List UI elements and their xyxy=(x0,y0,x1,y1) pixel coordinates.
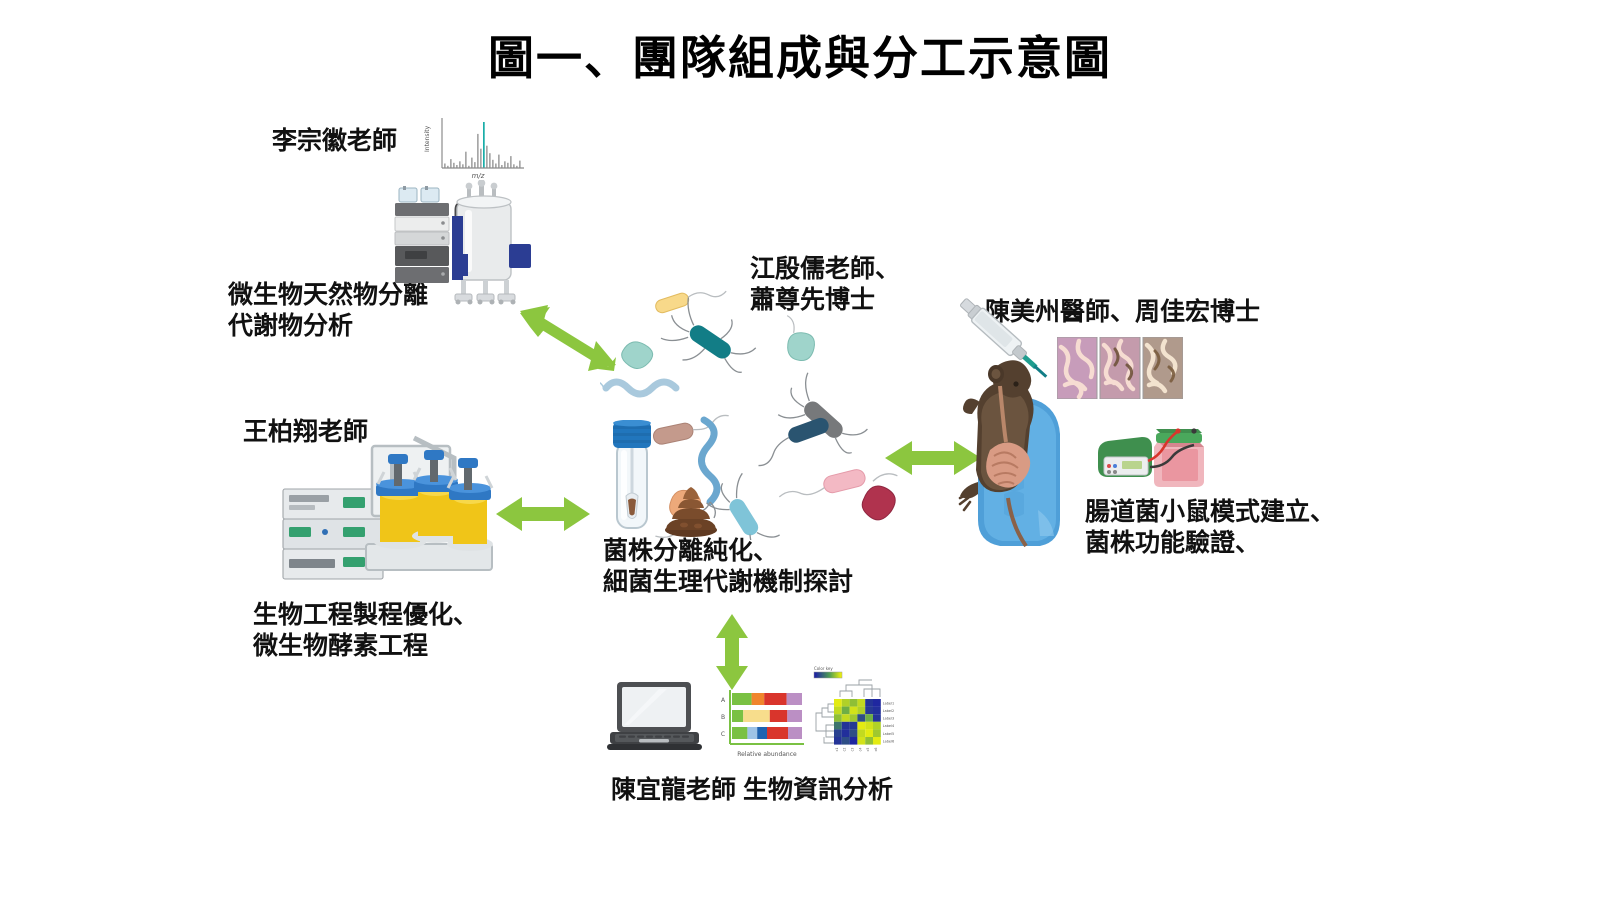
node-label-natural-products-role: 微生物天然物分離 代謝物分析 xyxy=(228,280,428,343)
svg-text:c1: c1 xyxy=(835,748,839,752)
svg-text:c5: c5 xyxy=(866,748,870,752)
svg-text:c4: c4 xyxy=(858,748,862,752)
svg-text:c2: c2 xyxy=(843,748,847,752)
page-title: 圖一、團隊組成與分工示意圖 xyxy=(0,22,1600,88)
histology-panels-icon xyxy=(1057,337,1183,399)
hplc-instrument-icon xyxy=(391,186,453,286)
node-label-animal-model-role: 腸道菌小鼠模式建立、 菌株功能驗證、 xyxy=(1085,497,1335,560)
svg-text:Label2: Label2 xyxy=(883,709,894,713)
node-label-natural-products-people: 李宗徽老師 xyxy=(272,126,397,157)
svg-text:Label1: Label1 xyxy=(883,701,894,705)
heatmap-icon: Color key xyxy=(800,663,900,761)
svg-text:Label4: Label4 xyxy=(883,724,894,728)
svg-text:B: B xyxy=(721,714,725,721)
node-label-bioprocess-role: 生物工程製程優化、 微生物酵素工程 xyxy=(253,600,478,663)
svg-text:C: C xyxy=(721,731,725,738)
svg-text:Color key: Color key xyxy=(814,666,833,671)
svg-text:Intensity: Intensity xyxy=(424,125,431,152)
stacked-bar-chart-icon: ABC Relative abundance xyxy=(712,684,808,760)
gel-electrophoresis-icon xyxy=(1096,413,1204,491)
node-label-bioprocess-people: 王柏翔老師 xyxy=(243,417,368,448)
connector-center-to-bioinformatics xyxy=(712,614,752,690)
svg-text:Label3: Label3 xyxy=(883,717,894,721)
svg-text:A: A xyxy=(721,697,726,704)
svg-text:m/z: m/z xyxy=(472,172,485,180)
svg-text:Label6: Label6 xyxy=(883,739,894,743)
node-label-bioinformatics-people: 陳宜龍老師 生物資訊分析 xyxy=(611,775,893,806)
nmr-spectrometer-icon xyxy=(452,180,536,305)
svg-text:c6: c6 xyxy=(874,748,878,752)
mouse-gavage-icon xyxy=(938,290,1084,548)
diagram-canvas: 圖一、團隊組成與分工示意圖 李宗徽老師 微生物天然物分離 代謝物分析 Inten… xyxy=(0,0,1600,900)
stool-icon xyxy=(664,485,718,537)
connector-bioprocess-to-center xyxy=(496,493,590,535)
stool-sample-tube-icon xyxy=(608,420,656,532)
bioreactor-icon xyxy=(358,432,503,572)
laptop-icon xyxy=(607,680,702,756)
svg-text:Label5: Label5 xyxy=(883,732,894,736)
svg-text:c3: c3 xyxy=(851,748,855,752)
node-label-strain-isolation-role: 菌株分離純化、 細菌生理代謝機制探討 xyxy=(603,536,853,599)
svg-text:Relative abundance: Relative abundance xyxy=(737,751,797,758)
mass-spectrum-icon: Intensity m/z xyxy=(418,112,528,180)
